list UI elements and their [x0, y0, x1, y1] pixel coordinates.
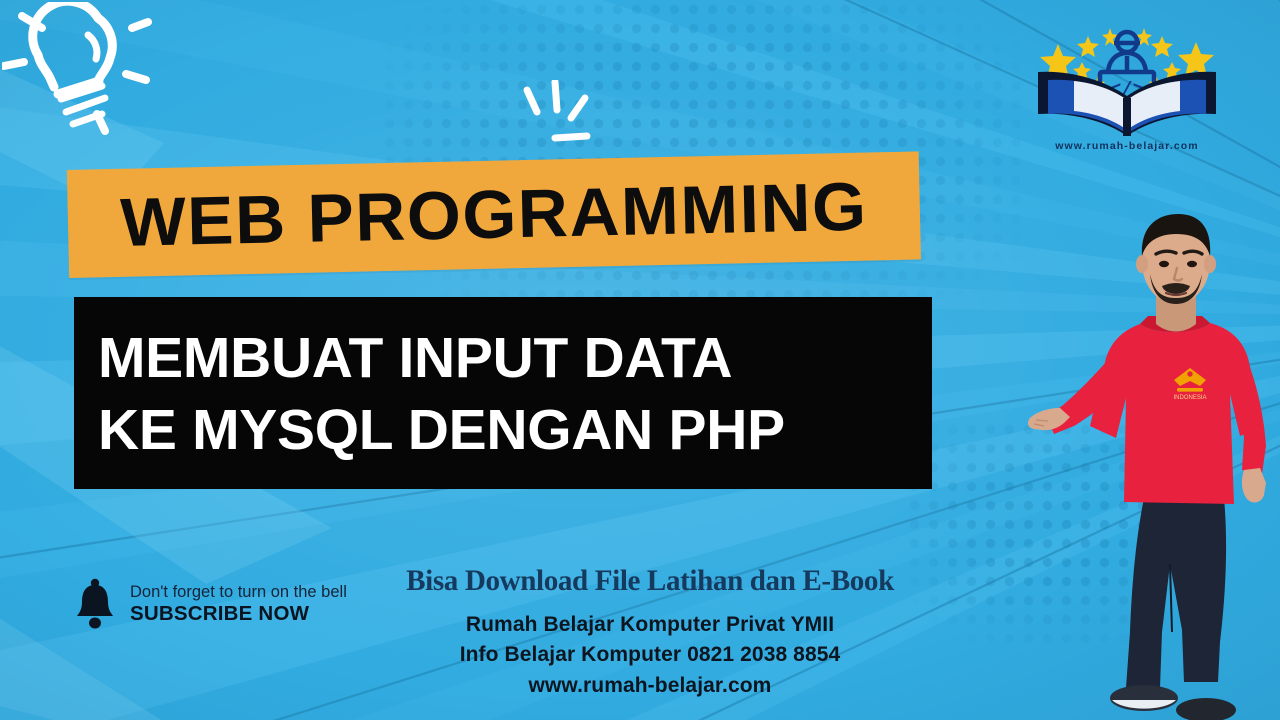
promo-line-1: Rumah Belajar Komputer Privat YMII	[340, 610, 960, 640]
brand-logo: </> www.rumah-belajar.com	[1022, 18, 1232, 168]
thumbnail-canvas: </> www.rumah-belajar.com WEB PROGRAMMIN…	[0, 0, 1280, 720]
promo-block: Bisa Download File Latihan dan E-Book Ru…	[340, 564, 960, 701]
bell-icon	[74, 578, 116, 630]
category-banner-label: WEB PROGRAMMING	[58, 151, 929, 278]
category-banner: WEB PROGRAMMING	[67, 151, 921, 278]
lightbulb-icon	[2, 2, 172, 152]
subscribe-prompt: Don't forget to turn on the bell	[130, 583, 347, 602]
spark-lines-icon	[515, 80, 665, 160]
open-book-logo-icon: </>	[1022, 18, 1232, 148]
title-line-2: KE MYSQL DENGAN PHP	[98, 394, 922, 466]
promo-line-3: www.rumah-belajar.com	[340, 671, 960, 701]
svg-text:INDONESIA: INDONESIA	[1173, 395, 1206, 401]
promo-line-2: Info Belajar Komputer 0821 2038 8854	[340, 640, 960, 670]
title-line-1: MEMBUAT INPUT DATA	[98, 322, 922, 394]
subscribe-cta[interactable]: SUBSCRIBE NOW	[130, 602, 347, 626]
logo-url-text: www.rumah-belajar.com	[1022, 140, 1232, 152]
promo-headline: Bisa Download File Latihan dan E-Book	[349, 564, 950, 598]
subscribe-block[interactable]: Don't forget to turn on the bell SUBSCRI…	[74, 578, 347, 630]
presenter-photo: INDONESIA	[1020, 212, 1280, 720]
title-box: MEMBUAT INPUT DATA KE MYSQL DENGAN PHP	[74, 297, 932, 489]
